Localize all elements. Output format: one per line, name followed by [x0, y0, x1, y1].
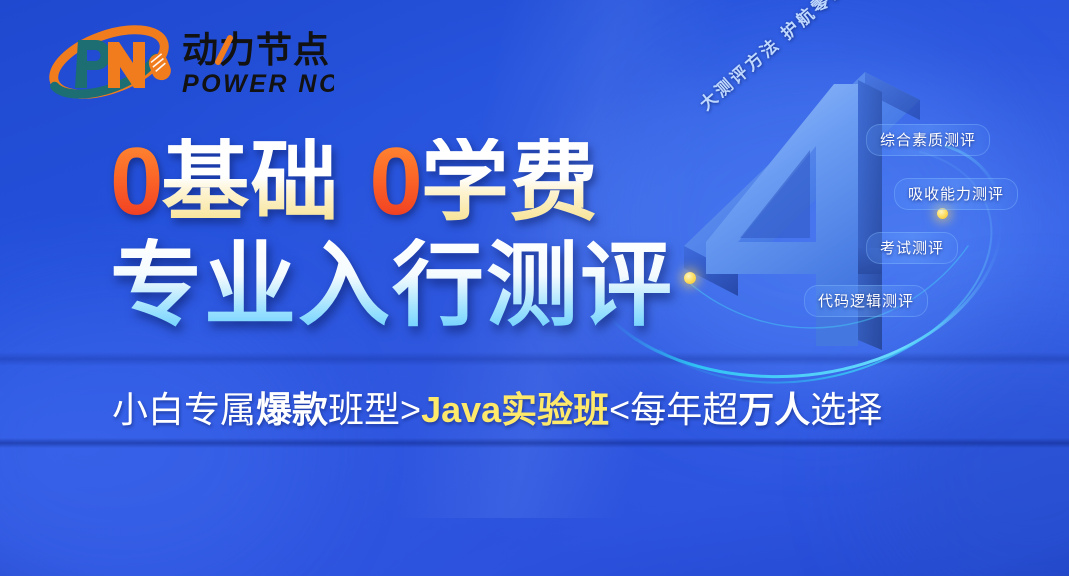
- logo-letter-p: [75, 40, 111, 88]
- tagline-angle-close: <: [609, 389, 630, 430]
- assessment-label-absorption: 吸收能力测评: [894, 178, 1018, 210]
- logo-name-cn: 动力节点: [182, 29, 330, 70]
- assessment-graphic: [620, 50, 1069, 410]
- assessment-label-comprehensive: 综合素质测评: [866, 124, 990, 156]
- tagline-course-name: Java实验班: [421, 389, 609, 430]
- brand-logo: 动力节点 POWER NODE: [34, 22, 334, 102]
- headline-zero-1: 0: [110, 138, 161, 226]
- tagline-angle-open: >: [400, 389, 421, 430]
- headline-line-2: 专业入行测评: [110, 238, 674, 336]
- orbit-node-left: [684, 272, 696, 284]
- tagline-part-yearly: 每年超: [630, 389, 738, 430]
- headline-word-basic: 基础: [161, 138, 339, 226]
- tagline-part-tenthousand: 万人: [738, 389, 810, 430]
- tagline: 小白专属爆款班型>Java实验班<每年超万人选择: [112, 388, 882, 431]
- headline-zero-2: 0: [369, 138, 420, 226]
- tagline-part-classtype: 班型: [328, 389, 400, 430]
- assessment-label-code-logic: 代码逻辑测评: [804, 285, 928, 317]
- headline-word-tuition: 学费: [421, 138, 599, 226]
- logo-name-en: POWER NODE: [182, 70, 334, 98]
- tagline-part-hot: 爆款: [256, 389, 328, 430]
- logo-node-glyph: [146, 51, 174, 83]
- background-glow-left: [0, 300, 310, 576]
- assessment-label-exam: 考试测评: [866, 232, 958, 264]
- tagline-part-choose: 选择: [810, 389, 882, 430]
- background-band-lower: [0, 438, 1069, 448]
- headline-line-1: 0 基础 0 学费: [110, 130, 599, 226]
- tagline-part-1: 小白专属: [112, 389, 256, 430]
- promo-banner: 动力节点 POWER NODE: [0, 0, 1069, 576]
